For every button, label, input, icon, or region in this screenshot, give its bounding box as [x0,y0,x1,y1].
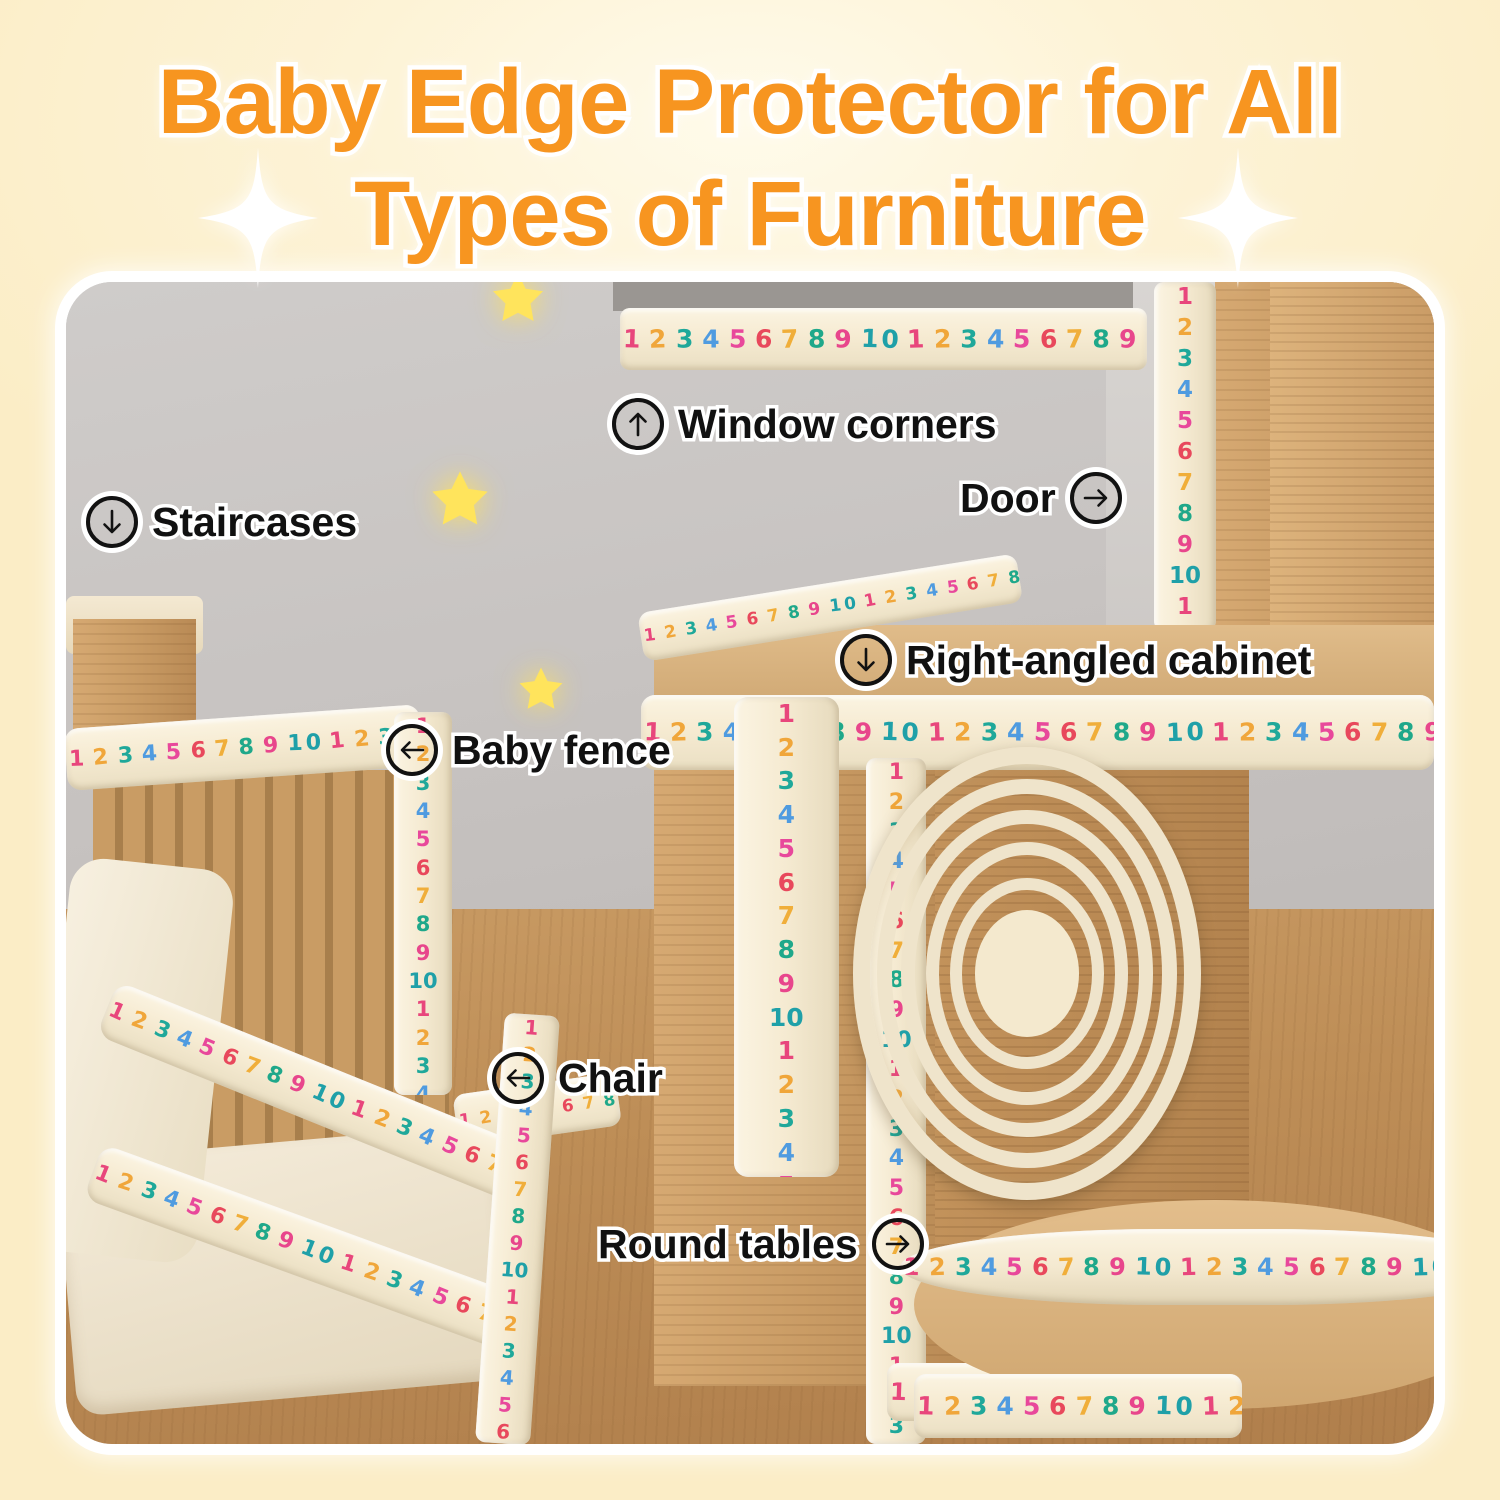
callout-chair[interactable]: Chair [492,1052,663,1104]
title-line-2: Types of Furniture [0,158,1500,270]
arrow-left-icon [386,724,438,776]
foam-strip-roll-tail: 1234567891012345678910123456789101234567… [734,697,839,1177]
foam-tape-roll: 1234567891012345678910123456789101234567… [853,747,1202,1200]
foam-strip-round-table: 1234567891012345678910123456789101234567… [900,1229,1434,1305]
foam-strip-door: 1234567891012345678910123456789101234567… [1154,282,1217,631]
callout-label: Round tables [598,1220,858,1268]
callout-baby-fence[interactable]: Baby fence [386,724,671,776]
infographic-page: Baby Edge Protector for All Types of Fur… [0,0,1500,1500]
title-line-1: Baby Edge Protector for All [0,46,1500,158]
callout-right-angled-cabinet[interactable]: Right-angled cabinet [840,634,1311,686]
page-title: Baby Edge Protector for All Types of Fur… [0,46,1500,270]
callout-label: Door [960,474,1056,522]
sparkle-icon-right [1178,148,1298,288]
sparkle-icon-left [198,148,318,288]
arrow-right-icon [1070,472,1122,524]
foam-strip-floor-sample: 1234567891012345678910123456789101234567… [914,1374,1242,1438]
callout-staircases[interactable]: Staircases [86,496,357,548]
arrow-left-icon [492,1052,544,1104]
callout-label: Right-angled cabinet [906,636,1311,684]
crib-post-left [73,619,196,735]
arrow-down-icon [86,496,138,548]
callout-label: Chair [558,1054,663,1102]
callout-window-corners[interactable]: Window corners [612,398,997,450]
foam-strip-window: 1234567891012345678910123456789101234567… [620,308,1147,371]
callout-label: Staircases [152,498,357,546]
arrow-right-icon [872,1218,924,1270]
callout-round-tables[interactable]: Round tables [598,1218,924,1270]
callout-label: Baby fence [452,726,671,774]
callout-label: Window corners [678,400,997,448]
door-panel [1270,282,1434,631]
arrow-up-icon [612,398,664,450]
window-frame [613,282,1133,311]
callout-door[interactable]: Door [960,472,1122,524]
arrow-down-icon [840,634,892,686]
roll-core [975,910,1080,1037]
